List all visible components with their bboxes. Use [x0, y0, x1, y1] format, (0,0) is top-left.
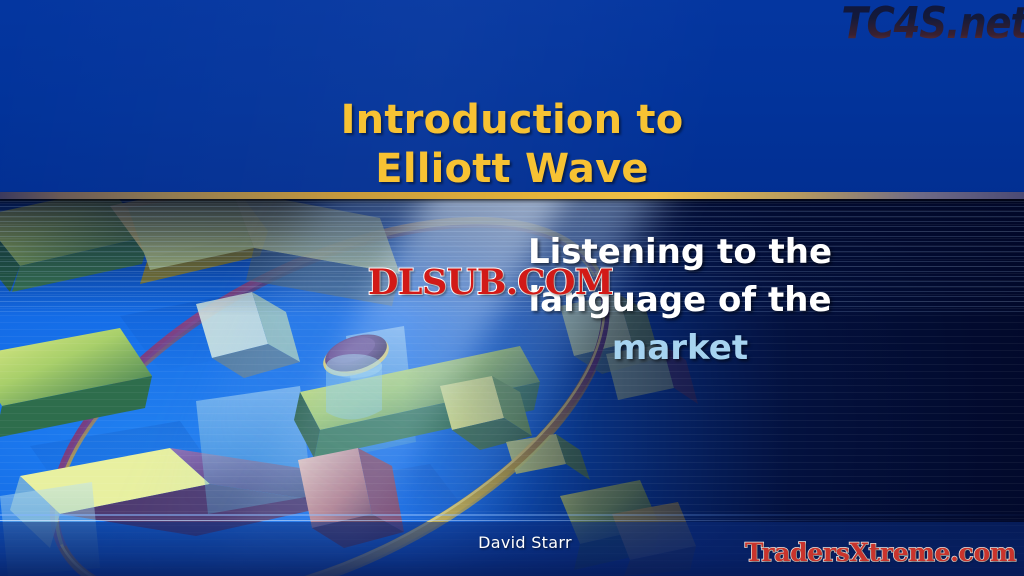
gold-divider-shadow	[0, 199, 1024, 204]
presentation-slide: Introduction to Elliott Wave Listening t…	[0, 0, 1024, 576]
presenter-name: David Starr	[380, 533, 670, 552]
footer-rule-upper	[0, 514, 1024, 516]
watermark-dlsub: DLSUB.COM	[368, 262, 613, 303]
slide-title: Introduction to Elliott Wave	[0, 96, 1024, 194]
slide-title-line-2: Elliott Wave	[0, 145, 1024, 194]
slide-subtitle-line-3: market	[460, 324, 900, 372]
footer-rule-lower	[0, 520, 1024, 521]
slide-title-line-1: Introduction to	[0, 96, 1024, 145]
watermark-tc4s: TC4S.net	[842, 0, 1024, 49]
watermark-tradersxtreme: TradersXtreme.com	[745, 538, 1016, 567]
